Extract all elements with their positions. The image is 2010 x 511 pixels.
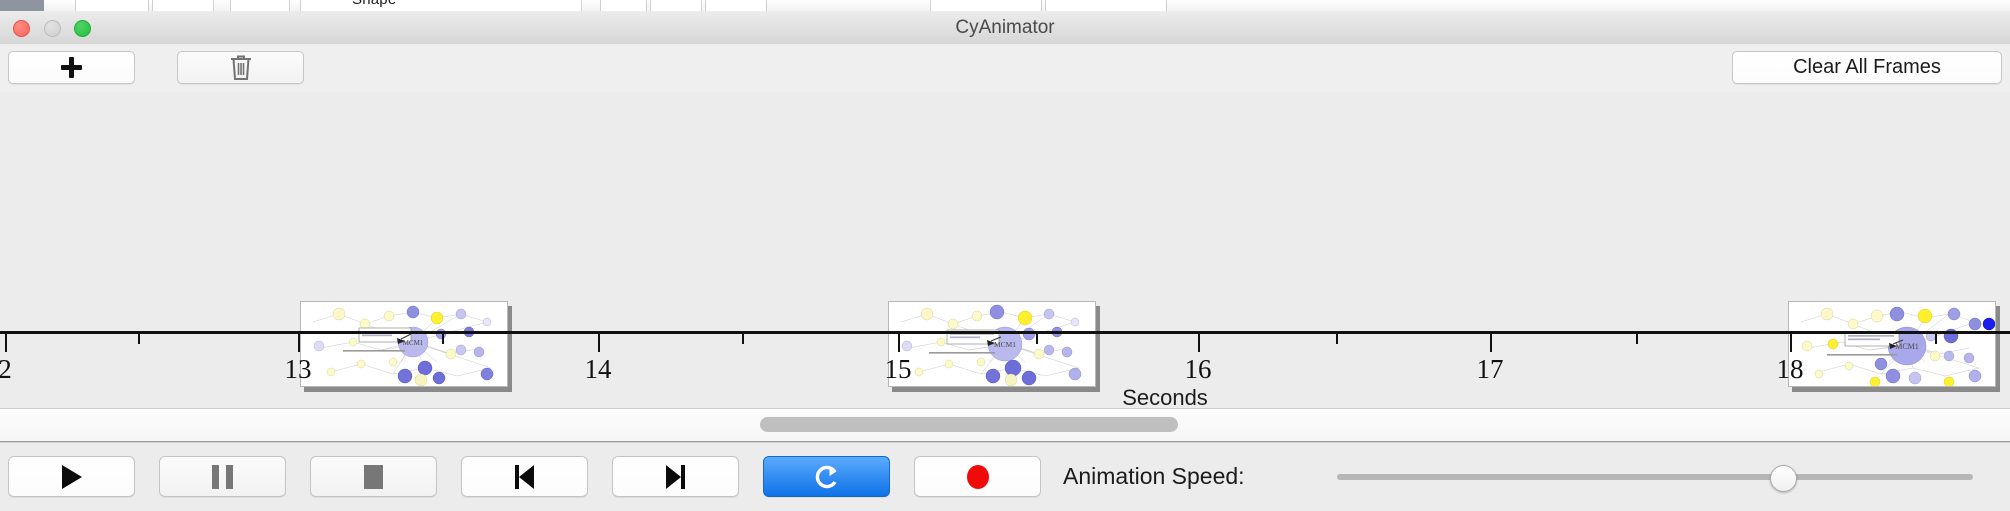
background-tab	[300, 0, 582, 11]
axis-tick	[298, 334, 300, 352]
background-tab	[650, 0, 702, 11]
previous-frame-button[interactable]	[461, 456, 588, 497]
axis-tick-label: 13	[285, 354, 312, 385]
network-graph-icon: MCM1	[301, 302, 508, 387]
background-tab	[152, 0, 214, 11]
axis-tick	[5, 334, 7, 352]
axis-tick-label: 17	[1477, 354, 1504, 385]
toolbar: Clear All Frames	[0, 44, 2010, 93]
skip-next-icon	[666, 465, 685, 489]
trash-icon	[229, 54, 253, 81]
background-tab	[930, 0, 1042, 11]
axis-tick	[442, 334, 444, 344]
axis-tick-label: 14	[585, 354, 612, 385]
loop-button[interactable]	[763, 456, 890, 497]
axis-tick-label: 16	[1185, 354, 1212, 385]
axis-tick	[742, 334, 744, 344]
axis-tick	[1198, 334, 1200, 352]
frame-image: MCM1	[888, 301, 1096, 387]
record-icon	[967, 465, 989, 489]
plus-icon	[61, 57, 82, 78]
play-button[interactable]	[8, 456, 135, 497]
axis-tick	[898, 334, 900, 352]
network-graph-icon: MCM1	[889, 302, 1096, 387]
background-tab	[1045, 0, 1167, 11]
frame-image: MCM1	[300, 301, 508, 387]
window-title: CyAnimator	[0, 11, 2010, 44]
axis-tick	[1636, 334, 1638, 344]
clear-all-frames-label: Clear All Frames	[1793, 56, 1941, 79]
animation-speed-slider[interactable]	[1337, 474, 1973, 480]
axis-tick	[138, 334, 140, 344]
background-tab	[230, 0, 290, 11]
animation-speed-knob[interactable]	[1770, 465, 1797, 492]
timeline-panel[interactable]: MCM1	[0, 92, 2010, 409]
pause-button[interactable]	[159, 456, 286, 497]
delete-frame-button[interactable]	[177, 51, 304, 84]
playback-controls: Animation Speed:	[0, 442, 2010, 511]
axis-tick-label: 15	[885, 354, 912, 385]
next-frame-button[interactable]	[612, 456, 739, 497]
background-titlebar-chip	[0, 0, 44, 11]
background-tab	[705, 0, 767, 11]
cyanimator-window: Shape CyAnimator Clear All Frames	[0, 0, 2010, 510]
axis-tick-label: 18	[1777, 354, 1804, 385]
frame-thumbnail-2[interactable]: MCM1	[888, 301, 1096, 387]
axis-tick	[1790, 334, 1792, 352]
background-tab	[75, 0, 149, 11]
axis-tick	[1336, 334, 1338, 344]
axis-tick	[1490, 334, 1492, 352]
background-tab	[600, 0, 647, 11]
svg-text:MCM1: MCM1	[403, 339, 424, 347]
stop-button[interactable]	[310, 456, 437, 497]
frame-thumbnail-1[interactable]: MCM1	[300, 301, 508, 387]
timeline-scrollbar[interactable]	[0, 409, 2010, 442]
skip-previous-icon	[515, 465, 534, 489]
loop-icon	[814, 463, 840, 491]
pause-icon	[212, 465, 233, 489]
frame-thumbnail-3[interactable]: MCM1	[1788, 301, 1996, 387]
axis-title: Seconds	[1122, 385, 1208, 409]
axis-tick	[598, 334, 600, 352]
axis-tick	[1935, 334, 1937, 344]
network-graph-icon: MCM1	[1789, 302, 1996, 387]
svg-text:MCM1: MCM1	[1895, 342, 1919, 351]
axis-tick-label: 2	[0, 354, 12, 385]
scrollbar-thumb[interactable]	[760, 417, 1178, 432]
add-frame-button[interactable]	[8, 51, 135, 84]
clear-all-frames-button[interactable]: Clear All Frames	[1732, 51, 2002, 84]
stop-icon	[364, 465, 383, 489]
animation-speed-label: Animation Speed:	[1063, 456, 1245, 497]
svg-text:MCM1: MCM1	[994, 340, 1016, 349]
axis-tick	[1036, 334, 1038, 344]
background-window-strip: Shape	[0, 0, 2010, 11]
play-icon	[62, 465, 82, 489]
record-button[interactable]	[914, 456, 1041, 497]
frame-image: MCM1	[1788, 301, 1996, 387]
timeline-axis	[0, 331, 2010, 334]
background-shape-label: Shape	[352, 0, 396, 8]
